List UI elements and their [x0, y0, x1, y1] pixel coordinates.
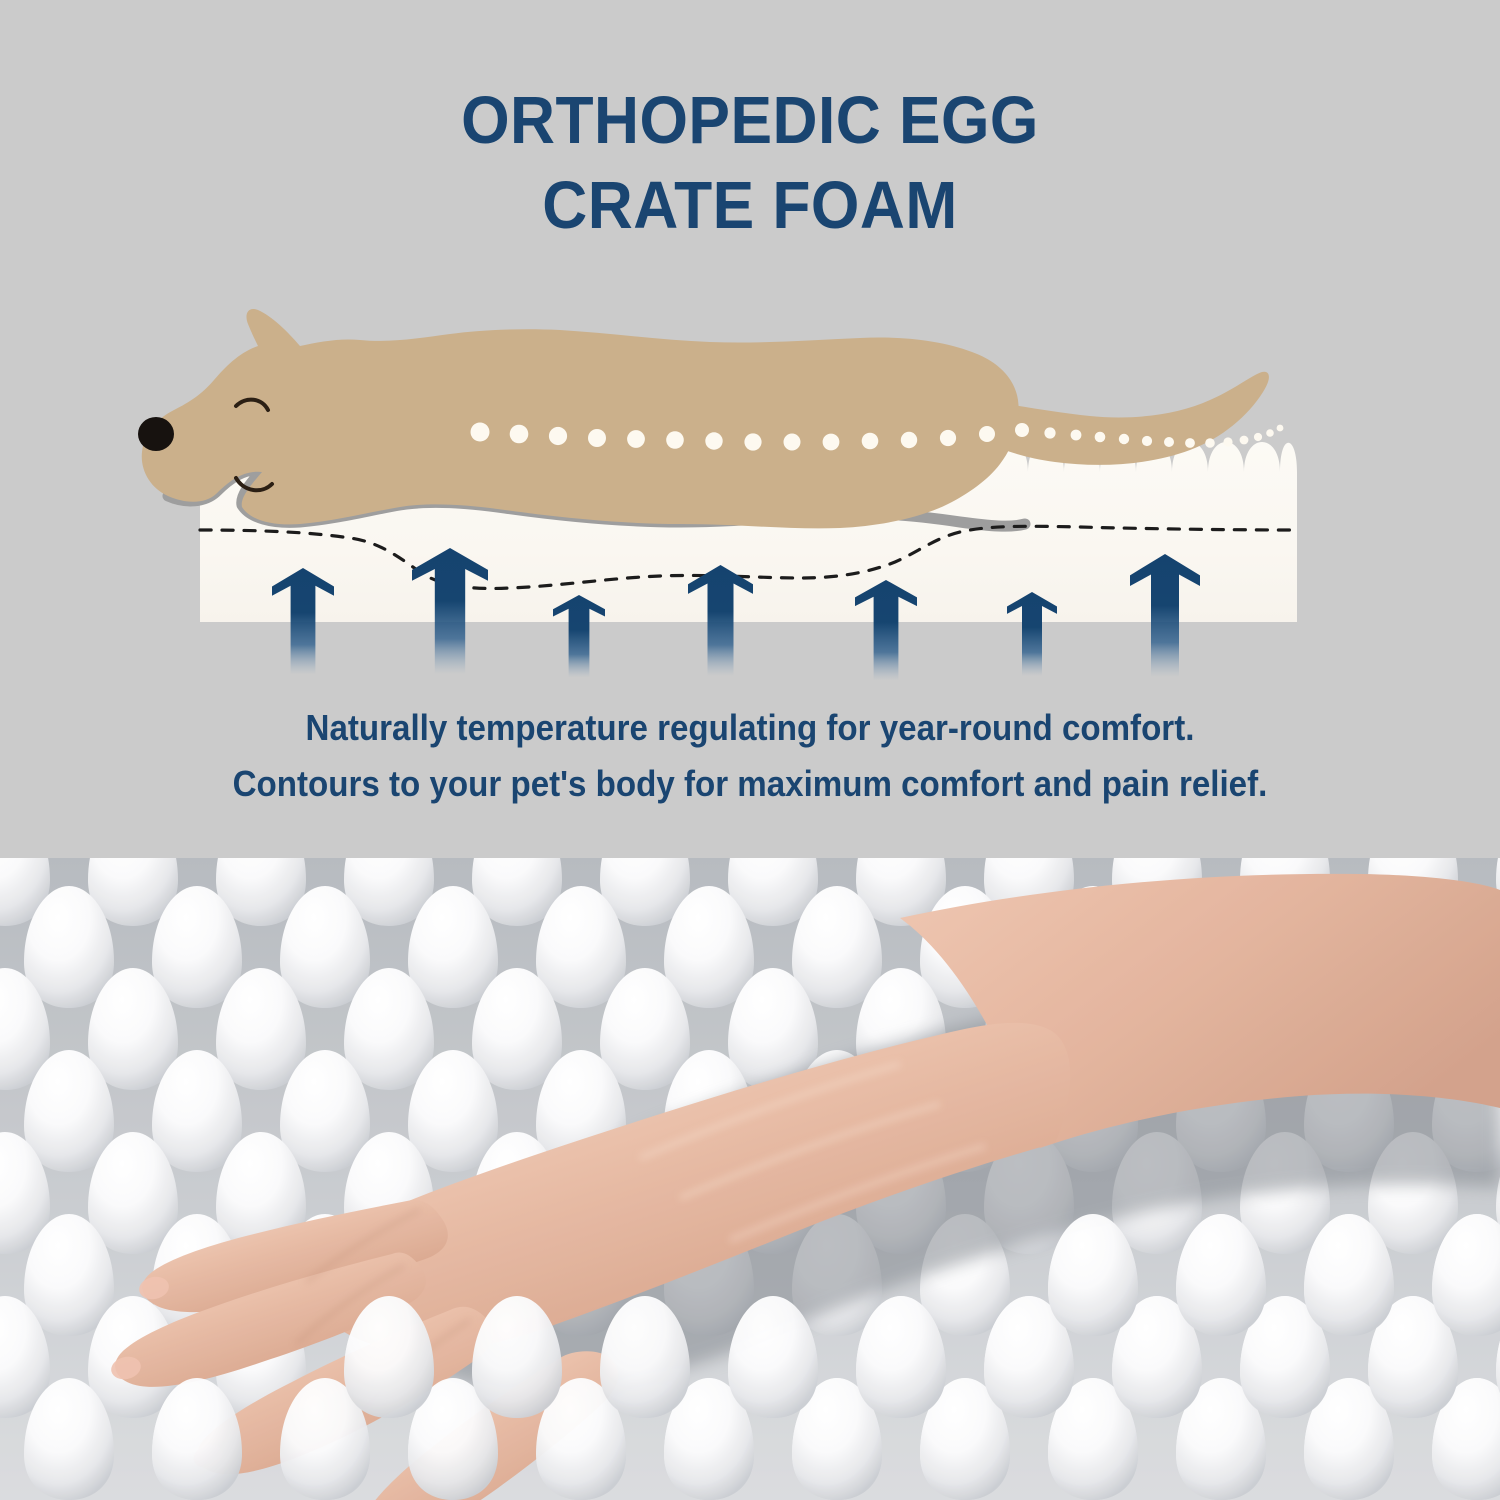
pressure-arrow-5	[855, 580, 917, 681]
page-title: ORTHOPEDIC EGG CRATE FOAM	[53, 78, 1448, 248]
top-info-panel: ORTHOPEDIC EGG CRATE FOAM	[0, 0, 1500, 858]
caption-line-2: Contours to your pet's body for maximum …	[60, 756, 1440, 812]
foam-contour-illustration	[0, 300, 1500, 690]
page-title-line-2: CRATE FOAM	[53, 163, 1448, 248]
feature-captions: Naturally temperature regulating for yea…	[60, 700, 1440, 812]
caption-line-1: Naturally temperature regulating for yea…	[60, 700, 1440, 756]
page-title-line-1: ORTHOPEDIC EGG	[53, 78, 1448, 163]
dog-nose	[138, 417, 174, 451]
foam-photo	[0, 858, 1500, 1500]
dog-body	[142, 309, 1019, 528]
pressure-arrow-3	[553, 595, 605, 678]
product-feature-infographic: ORTHOPEDIC EGG CRATE FOAM	[0, 0, 1500, 1500]
pressure-arrow-6	[1007, 592, 1057, 676]
